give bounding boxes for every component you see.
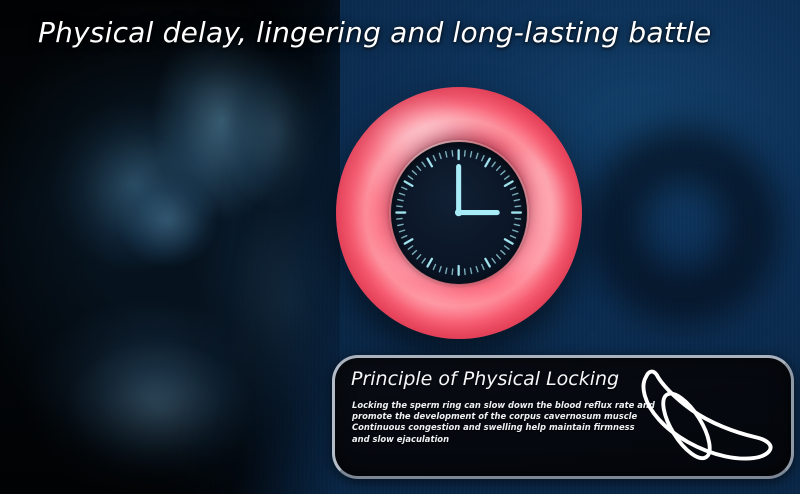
info-panel-body-line: Continuous congestion and swelling help … [352,422,624,433]
background-shadow-ring [588,128,780,324]
couple-embracing-photo [0,0,340,494]
ring-line-art-icon [625,366,783,472]
info-panel: Principle of Physical Locking Locking th… [332,355,794,479]
clock-hands [455,167,497,217]
info-panel-body-line: and slow ejaculation [352,434,624,445]
info-panel-body-line: promote the development of the corpus ca… [352,411,624,422]
info-panel-body-line: Locking the sperm ring can slow down the… [352,400,624,411]
product-banner: Physical delay, lingering and long-lasti… [0,0,800,494]
product-ring [336,87,582,339]
photo-vignette [0,0,340,494]
info-panel-body: Locking the sperm ring can slow down the… [352,400,624,445]
clock-face [391,142,526,283]
info-panel-title: Principle of Physical Locking [351,368,619,390]
clock-center-pin [455,209,462,216]
page-title: Physical delay, lingering and long-lasti… [38,16,711,49]
